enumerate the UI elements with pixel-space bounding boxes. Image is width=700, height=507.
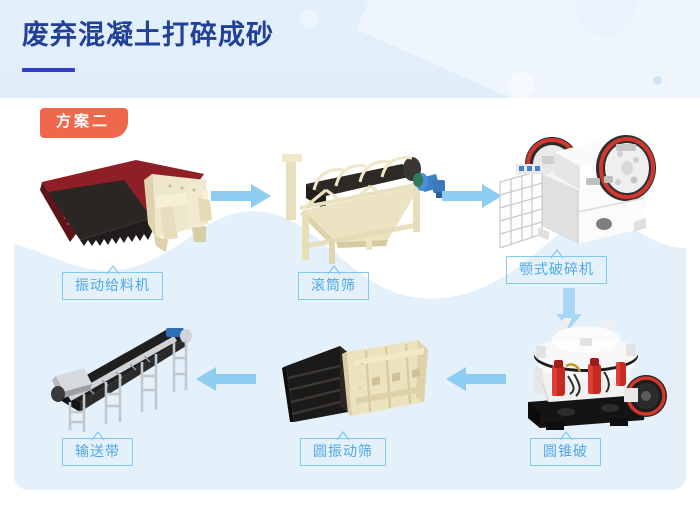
title-underline xyxy=(22,68,75,72)
vibrating-feeder-image xyxy=(36,146,216,266)
header-decor-circle-medium xyxy=(508,72,534,98)
scheme-badge: 方案二 xyxy=(40,108,128,138)
node-cone-crusher[interactable] xyxy=(506,304,676,436)
header-decor-dot xyxy=(653,76,662,85)
jaw-crusher-image xyxy=(494,116,670,264)
chip-pointer-icon xyxy=(91,431,105,440)
conveyor-belt-image xyxy=(40,328,204,436)
page-root: 废弃混凝土打碎成砂 方案二 xyxy=(0,0,700,507)
label-text: 圆锥破 xyxy=(543,443,588,459)
node-vibrating-feeder[interactable] xyxy=(36,146,216,266)
label-vibrating-feeder[interactable]: 振动给料机 xyxy=(62,272,163,300)
chip-pointer-icon xyxy=(550,249,564,258)
label-drum-screen[interactable]: 滚筒筛 xyxy=(298,272,369,300)
arrow-left-icon xyxy=(196,366,256,392)
arrow-feeder-to-drum xyxy=(211,183,273,209)
node-drum-screen[interactable] xyxy=(270,144,450,266)
label-text: 振动给料机 xyxy=(75,277,150,293)
label-text: 圆振动筛 xyxy=(313,443,373,459)
node-circular-screen[interactable] xyxy=(276,326,444,436)
arrow-left-icon xyxy=(446,366,506,392)
label-text: 输送带 xyxy=(75,443,120,459)
chip-pointer-icon xyxy=(336,431,350,440)
node-conveyor-belt[interactable] xyxy=(40,328,204,436)
chip-pointer-icon xyxy=(327,265,341,274)
chip-pointer-icon xyxy=(106,265,120,274)
chip-pointer-icon xyxy=(559,431,573,440)
label-text: 颚式破碎机 xyxy=(519,261,594,277)
arrow-right-icon xyxy=(211,183,273,209)
label-cone-crusher[interactable]: 圆锥破 xyxy=(530,438,601,466)
drum-screen-image xyxy=(270,144,450,266)
arrow-cone-to-screen xyxy=(446,366,506,392)
page-title: 废弃混凝土打碎成砂 xyxy=(22,22,274,49)
label-text: 滚筒筛 xyxy=(311,277,356,293)
page-header: 废弃混凝土打碎成砂 xyxy=(0,0,700,98)
flow-panel: 方案二 xyxy=(14,98,686,490)
arrow-screen-to-belt xyxy=(196,366,256,392)
circular-screen-image xyxy=(276,326,444,436)
node-jaw-crusher[interactable] xyxy=(494,116,670,264)
label-conveyor-belt[interactable]: 输送带 xyxy=(62,438,133,466)
cone-crusher-image xyxy=(506,304,676,436)
label-circular-screen[interactable]: 圆振动筛 xyxy=(300,438,386,466)
header-decor-circle-small xyxy=(300,10,318,28)
label-jaw-crusher[interactable]: 颚式破碎机 xyxy=(506,256,607,284)
